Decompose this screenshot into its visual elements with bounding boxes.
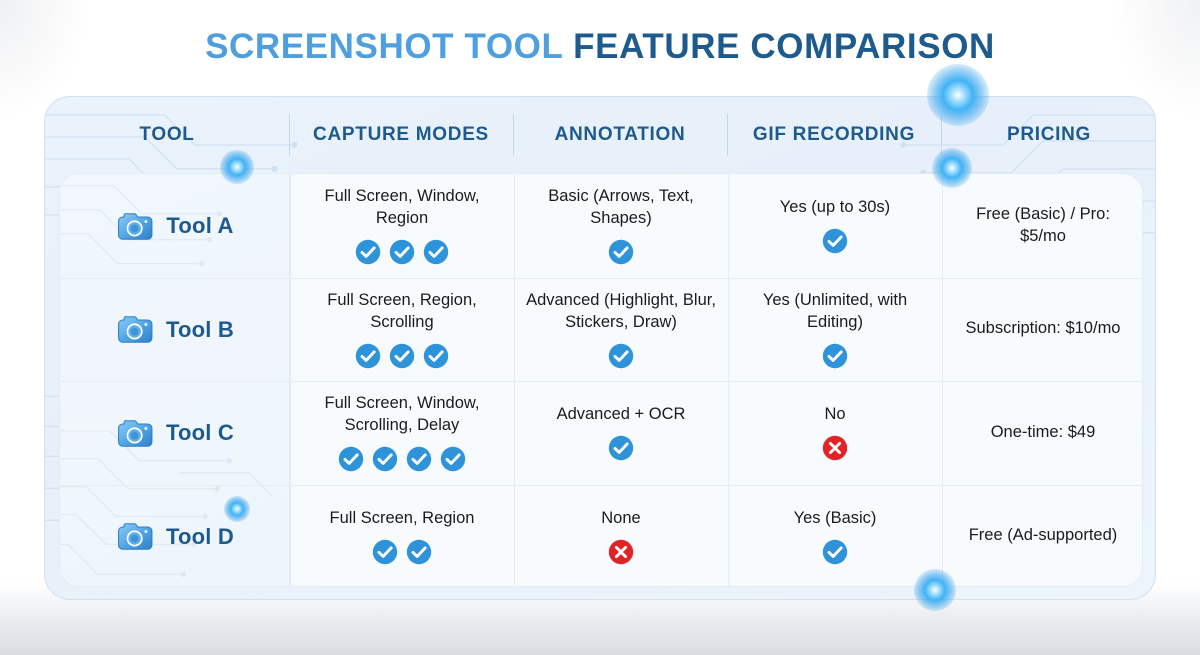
status-marks <box>822 228 848 254</box>
table-row: Tool AFull Screen, Window, RegionBasic (… <box>60 174 1143 278</box>
cell-text: Full Screen, Region <box>330 508 475 530</box>
column-header-annotation: ANNOTATION <box>513 112 727 158</box>
check-icon <box>389 343 415 369</box>
cell-capture-modes: Full Screen, Window, Scrolling, Delay <box>290 381 514 485</box>
cell-text: Subscription: $10/mo <box>965 318 1120 340</box>
cell-pricing: Subscription: $10/mo <box>942 278 1143 382</box>
cell-text: Full Screen, Window, Region <box>300 186 504 230</box>
table-header-row: TOOL CAPTURE MODES ANNOTATION GIF RECORD… <box>45 97 1156 173</box>
cell-annotation: Basic (Arrows, Text, Shapes) <box>514 174 728 278</box>
column-header-gif-recording: GIF RECORDING <box>727 112 941 158</box>
check-icon <box>338 446 364 472</box>
comparison-table-card: Tool AFull Screen, Window, RegionBasic (… <box>59 173 1143 587</box>
cell-tool: Tool D <box>60 485 290 588</box>
cell-text: Yes (up to 30s) <box>780 197 890 219</box>
cell-text: Advanced (Highlight, Blur, Stickers, Dra… <box>524 290 718 334</box>
cross-icon <box>822 435 848 461</box>
cell-annotation: Advanced + OCR <box>514 381 728 485</box>
cell-capture-modes: Full Screen, Window, Region <box>290 174 514 278</box>
cell-annotation: Advanced (Highlight, Blur, Stickers, Dra… <box>514 278 728 382</box>
cell-text: Free (Basic) / Pro: $5/mo <box>952 204 1134 248</box>
cell-text: One-time: $49 <box>991 422 1096 444</box>
cell-tool: Tool C <box>60 381 290 485</box>
status-marks <box>822 539 848 565</box>
status-marks <box>822 435 848 461</box>
cell-gif-recording: No <box>728 381 942 485</box>
check-icon <box>822 228 848 254</box>
cell-text: Advanced + OCR <box>557 404 686 426</box>
cell-tool: Tool A <box>60 174 290 278</box>
camera-icon <box>116 416 154 450</box>
column-header-capture-modes: CAPTURE MODES <box>289 112 513 158</box>
cell-text: Free (Ad-supported) <box>969 525 1118 547</box>
status-marks <box>608 343 634 369</box>
check-icon <box>389 239 415 265</box>
camera-icon <box>116 312 154 346</box>
cell-text: Basic (Arrows, Text, Shapes) <box>524 186 718 230</box>
check-icon <box>406 539 432 565</box>
cell-gif-recording: Yes (Unlimited, with Editing) <box>728 278 942 382</box>
page-title: SCREENSHOT TOOL FEATURE COMPARISON <box>0 27 1200 67</box>
cell-annotation: None <box>514 485 728 588</box>
check-icon <box>372 539 398 565</box>
table-row: Tool CFull Screen, Window, Scrolling, De… <box>60 381 1143 485</box>
page-title-light: SCREENSHOT TOOL <box>205 27 563 66</box>
column-header-tool: TOOL <box>45 112 289 158</box>
cell-pricing: Free (Basic) / Pro: $5/mo <box>942 174 1143 278</box>
check-icon <box>423 343 449 369</box>
cell-text: Full Screen, Region, Scrolling <box>300 290 504 334</box>
cell-text: Yes (Basic) <box>794 508 877 530</box>
camera-icon <box>116 519 154 553</box>
check-icon <box>822 343 848 369</box>
cell-text: Yes (Unlimited, with Editing) <box>738 290 932 334</box>
cell-tool: Tool B <box>60 278 290 382</box>
tool-name: Tool A <box>166 211 233 240</box>
check-icon <box>372 446 398 472</box>
camera-icon <box>116 209 154 243</box>
table-rows: Tool AFull Screen, Window, RegionBasic (… <box>60 174 1143 587</box>
check-icon <box>608 239 634 265</box>
status-marks <box>822 343 848 369</box>
status-marks <box>608 539 634 565</box>
cell-pricing: Free (Ad-supported) <box>942 485 1143 588</box>
cell-capture-modes: Full Screen, Region <box>290 485 514 588</box>
tool-name: Tool B <box>166 315 234 344</box>
cell-text: Full Screen, Window, Scrolling, Delay <box>300 393 504 437</box>
cross-icon <box>608 539 634 565</box>
check-icon <box>406 446 432 472</box>
check-icon <box>822 539 848 565</box>
page-title-dark: FEATURE COMPARISON <box>573 27 995 66</box>
check-icon <box>355 239 381 265</box>
tool-name: Tool C <box>166 418 234 447</box>
check-icon <box>423 239 449 265</box>
table-row: Tool BFull Screen, Region, ScrollingAdva… <box>60 278 1143 382</box>
check-icon <box>608 435 634 461</box>
check-icon <box>440 446 466 472</box>
check-icon <box>355 343 381 369</box>
cell-pricing: One-time: $49 <box>942 381 1143 485</box>
cell-text: No <box>824 404 845 426</box>
tool-name: Tool D <box>166 522 234 551</box>
status-marks <box>608 435 634 461</box>
cell-capture-modes: Full Screen, Region, Scrolling <box>290 278 514 382</box>
status-marks <box>372 539 432 565</box>
comparison-panel: TOOL CAPTURE MODES ANNOTATION GIF RECORD… <box>44 96 1156 600</box>
status-marks <box>355 239 449 265</box>
status-marks <box>338 446 466 472</box>
status-marks <box>355 343 449 369</box>
cell-text: None <box>601 508 640 530</box>
check-icon <box>608 343 634 369</box>
cell-gif-recording: Yes (Basic) <box>728 485 942 588</box>
table-row: Tool DFull Screen, RegionNoneYes (Basic)… <box>60 485 1143 588</box>
cell-gif-recording: Yes (up to 30s) <box>728 174 942 278</box>
status-marks <box>608 239 634 265</box>
column-header-pricing: PRICING <box>941 112 1156 158</box>
